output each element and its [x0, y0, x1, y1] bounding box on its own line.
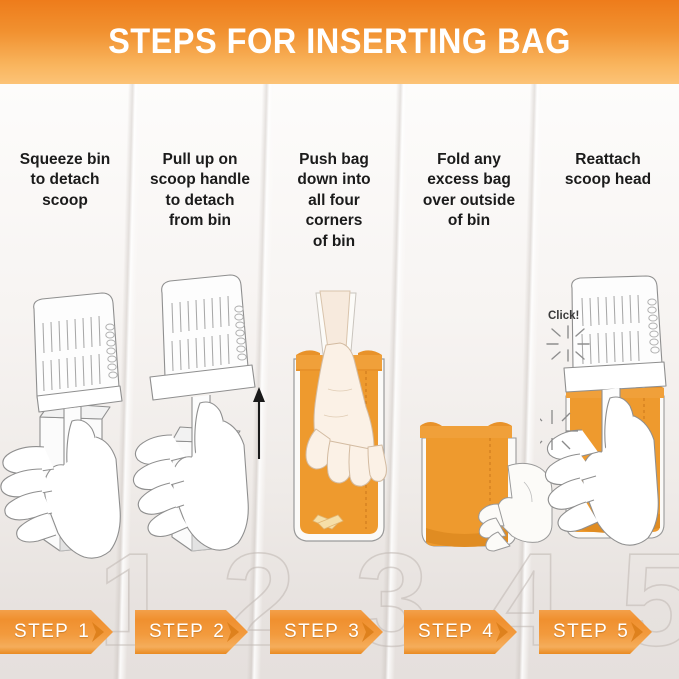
step-bar-label-5: STEP 5: [539, 610, 629, 654]
up-arrow-icon: [253, 387, 265, 459]
caption-line: scoop handle: [137, 170, 263, 190]
step-caption-5: Reattach scoop head: [543, 150, 673, 191]
steps-panel: 1 2 3 4 5 Squeeze bin to detach scoop Pu…: [0, 84, 679, 679]
header-banner: STEPS FOR INSERTING BAG: [0, 0, 679, 84]
illustration-step-3: [280, 289, 400, 559]
caption-line: Squeeze bin: [2, 150, 128, 170]
caption-line: Push bag: [271, 150, 397, 170]
step-word: STEP: [553, 621, 608, 643]
chevron-right-icon: [355, 619, 381, 645]
click-annotation: Click!: [548, 310, 579, 322]
caption-line: Fold any: [406, 150, 532, 170]
step-caption-1: Squeeze bin to detach scoop: [2, 150, 128, 211]
page-title: STEPS FOR INSERTING BAG: [24, 22, 655, 62]
caption-line: down into: [271, 170, 397, 190]
caption-line: scoop head: [543, 170, 673, 190]
step-word: STEP: [284, 621, 339, 643]
illustration-step-4: [412, 404, 554, 569]
step-caption-2: Pull up on scoop handle to detach from b…: [137, 150, 263, 232]
chevron-right-icon: [220, 619, 246, 645]
step-word: STEP: [418, 621, 473, 643]
chevron-right-icon: [624, 619, 650, 645]
illustration-step-1: [0, 269, 130, 559]
step-word: STEP: [149, 621, 204, 643]
step-caption-4: Fold any excess bag over outside of bin: [406, 150, 532, 232]
chevron-right-icon: [85, 619, 111, 645]
caption-line: of bin: [406, 211, 532, 231]
caption-line: to detach: [2, 170, 128, 190]
step-word: STEP: [14, 621, 69, 643]
caption-line: to detach: [137, 191, 263, 211]
click-spark-icon: [544, 324, 592, 364]
chevron-right-icon: [489, 619, 515, 645]
step-bar-label-4: STEP 4: [404, 610, 494, 654]
illustration-step-2: [132, 269, 266, 559]
step-bar-label-3: STEP 3: [270, 610, 360, 654]
caption-line: all four: [271, 191, 397, 211]
caption-line: from bin: [137, 211, 263, 231]
caption-line: Pull up on: [137, 150, 263, 170]
caption-line: corners: [271, 211, 397, 231]
caption-line: Reattach: [543, 150, 673, 170]
caption-line: scoop: [2, 191, 128, 211]
caption-line: over outside: [406, 191, 532, 211]
step-bar-label-2: STEP 2: [135, 610, 225, 654]
caption-line: excess bag: [406, 170, 532, 190]
step-caption-3: Push bag down into all four corners of b…: [271, 150, 397, 252]
step-bar-label-1: STEP 1: [0, 610, 90, 654]
caption-line: of bin: [271, 232, 397, 252]
